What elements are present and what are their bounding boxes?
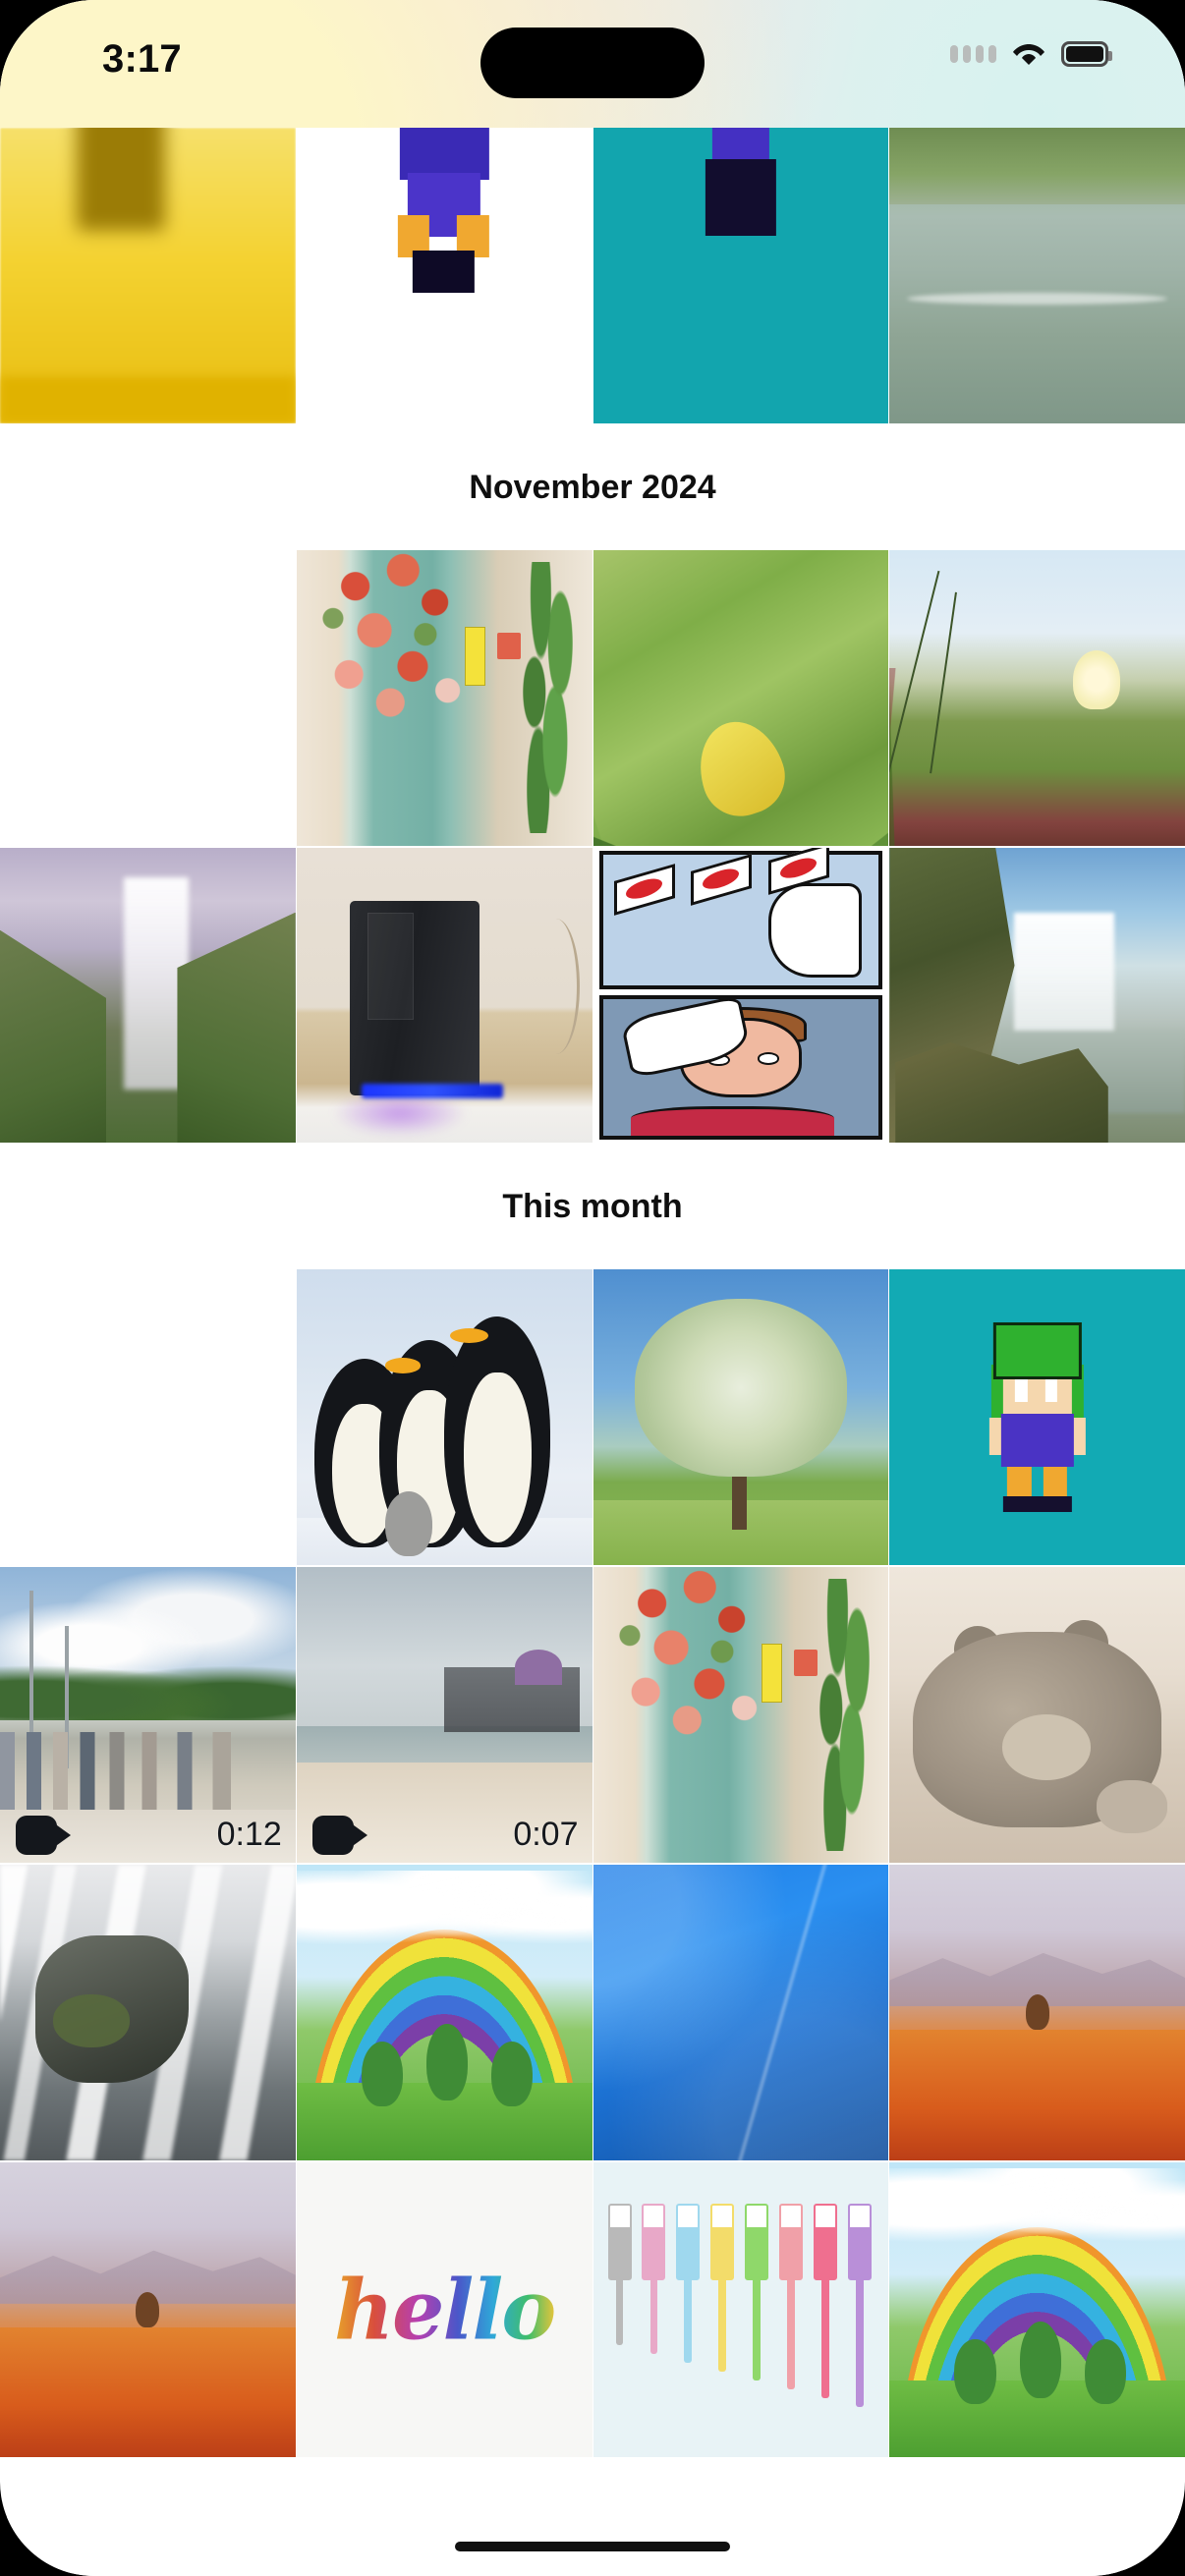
cellular-dots-icon: [950, 45, 996, 63]
media-thumbnail[interactable]: [889, 128, 1185, 423]
media-thumbnail[interactable]: [889, 2162, 1185, 2458]
media-thumbnail[interactable]: [593, 1567, 889, 1863]
media-grid-november: [0, 550, 1185, 1144]
media-thumbnail[interactable]: [297, 848, 592, 1144]
media-thumbnail[interactable]: [0, 1865, 296, 2160]
media-thumbnail[interactable]: [889, 1567, 1185, 1863]
status-bar-time: 3:17: [102, 37, 182, 82]
media-thumbnail[interactable]: [0, 2162, 296, 2458]
media-thumbnail[interactable]: [0, 128, 296, 423]
media-thumbnail[interactable]: [593, 128, 889, 423]
media-thumbnail[interactable]: [297, 128, 592, 423]
pixel-sprite-icon: [391, 128, 497, 364]
media-thumbnail[interactable]: [593, 2162, 889, 2458]
media-thumbnail[interactable]: [593, 848, 889, 1144]
phone-screen: 3:17 Room info: [0, 0, 1185, 2576]
media-grid-this-month: 0:12 0:07: [0, 1269, 1185, 2457]
media-thumbnail[interactable]: [593, 550, 889, 846]
media-thumbnail[interactable]: hello: [297, 2162, 592, 2458]
hello-lettering: hello: [334, 2261, 554, 2358]
media-gallery-scroll[interactable]: November 2024: [0, 128, 1185, 2457]
section-header-november: November 2024: [0, 423, 1185, 550]
video-camera-icon: [16, 1816, 71, 1855]
battery-icon: [1061, 41, 1108, 67]
video-duration: 0:07: [513, 1816, 578, 1854]
media-thumbnail[interactable]: [889, 550, 1185, 846]
media-cell-empty: [0, 550, 296, 846]
status-bar: 3:17: [0, 0, 1185, 130]
home-indicator[interactable]: [455, 2542, 730, 2551]
media-cell-empty: [0, 1269, 296, 1565]
pixel-sprite-icon: [697, 128, 785, 341]
media-thumbnail[interactable]: [297, 550, 592, 846]
media-thumbnail-video[interactable]: 0:12: [0, 1567, 296, 1863]
video-duration: 0:12: [217, 1816, 282, 1854]
media-thumbnail[interactable]: [889, 1865, 1185, 2160]
video-badge: 0:12: [0, 1816, 296, 1855]
home-indicator-area: [0, 2517, 1185, 2576]
section-header-this-month: This month: [0, 1143, 1185, 1269]
media-grid-partial-row: [0, 128, 1185, 423]
media-thumbnail[interactable]: [593, 1269, 889, 1565]
media-thumbnail[interactable]: [0, 848, 296, 1144]
media-thumbnail[interactable]: [297, 1865, 592, 2160]
media-thumbnail-video[interactable]: 0:07: [297, 1567, 592, 1863]
status-bar-indicators: [950, 41, 1108, 67]
media-thumbnail[interactable]: [889, 1269, 1185, 1565]
wifi-icon: [1012, 41, 1045, 67]
media-thumbnail[interactable]: [593, 1865, 889, 2160]
media-thumbnail[interactable]: [297, 1269, 592, 1565]
video-badge: 0:07: [297, 1816, 592, 1855]
dynamic-island: [480, 28, 705, 98]
video-camera-icon: [312, 1816, 367, 1855]
pixel-character-icon: [987, 1322, 1088, 1511]
media-thumbnail[interactable]: [889, 848, 1185, 1144]
paint-tubes-art: [593, 2162, 889, 2458]
